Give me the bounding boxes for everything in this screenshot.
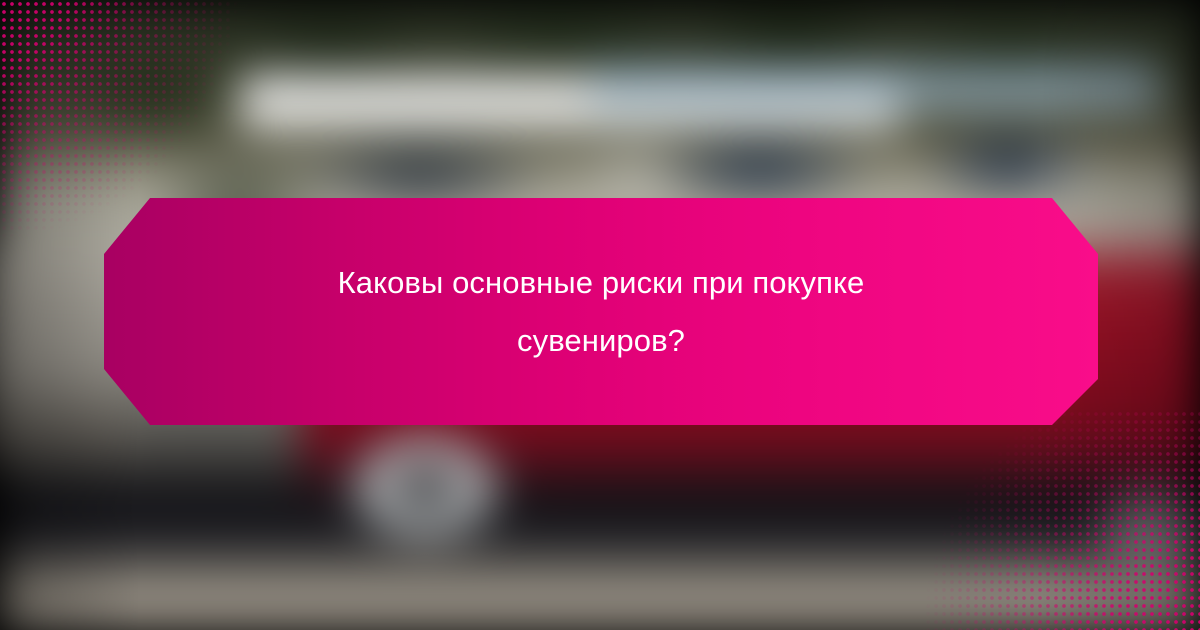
headline-text: Каковы основные риски при покупке сувени…	[251, 254, 951, 370]
halftone-dots-bottom-right-icon	[900, 410, 1200, 630]
banner-canvas: Каковы основные риски при покупке сувени…	[0, 0, 1200, 630]
headline-banner: Каковы основные риски при покупке сувени…	[104, 198, 1098, 425]
